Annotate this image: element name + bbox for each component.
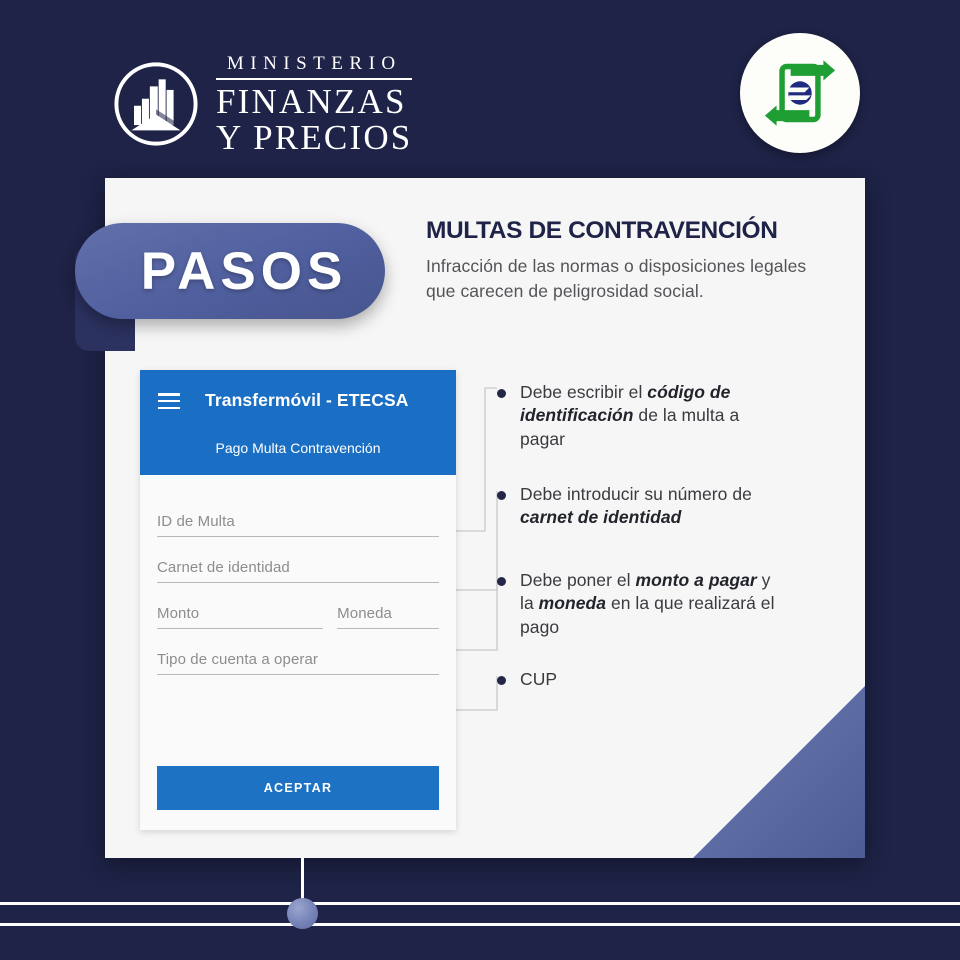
field-label-monto: Monto bbox=[157, 605, 323, 622]
field-label-moneda: Moneda bbox=[337, 605, 439, 622]
field-monto[interactable]: Monto bbox=[157, 605, 323, 629]
callout-monto-moneda: Debe poner el monto a pagar y la moneda … bbox=[497, 569, 782, 639]
field-label-carnet-de-identidad: Carnet de identidad bbox=[157, 559, 439, 576]
transfermovil-badge bbox=[740, 33, 860, 153]
field-row-monto-moneda: Monto Moneda bbox=[157, 605, 439, 629]
ministry-wordmark: MINISTERIO FINANZAS Y PRECIOS bbox=[216, 52, 412, 155]
page-title: MULTAS DE CONTRAVENCIÓN bbox=[426, 218, 826, 245]
form-area: ID de Multa Carnet de identidad Monto Mo… bbox=[140, 475, 456, 675]
callout-bullet-icon bbox=[497, 389, 506, 398]
app-bar: Transfermóvil - ETECSA Pago Multa Contra… bbox=[140, 370, 456, 475]
field-label-tipo-de-cuenta: Tipo de cuenta a operar bbox=[157, 651, 439, 668]
pasos-banner-label: PASOS bbox=[141, 245, 348, 298]
callout-bullet-icon bbox=[497, 491, 506, 500]
transfermovil-phone-sync-icon bbox=[761, 54, 839, 132]
bottom-node-circle bbox=[287, 898, 318, 929]
ministry-line-precios: Y PRECIOS bbox=[216, 120, 412, 156]
callout-text: CUP bbox=[520, 668, 557, 691]
callout-bullet-icon bbox=[497, 577, 506, 586]
page-header: MINISTERIO FINANZAS Y PRECIOS bbox=[0, 0, 960, 175]
field-moneda[interactable]: Moneda bbox=[337, 605, 439, 629]
callout-bullet-icon bbox=[497, 676, 506, 685]
ministry-building-emblem-icon bbox=[112, 60, 200, 148]
callout-cup: CUP bbox=[497, 668, 557, 691]
app-bar-title: Transfermóvil - ETECSA bbox=[205, 390, 409, 411]
title-block: MULTAS DE CONTRAVENCIÓN Infracción de la… bbox=[426, 218, 826, 304]
callout-text: Debe poner el monto a pagar y la moneda … bbox=[520, 569, 782, 639]
accept-button[interactable]: ACEPTAR bbox=[157, 766, 439, 810]
ministry-line-finanzas: FINANZAS bbox=[216, 80, 412, 120]
field-tipo-de-cuenta[interactable]: Tipo de cuenta a operar bbox=[157, 651, 439, 675]
callout-codigo-identificacion: Debe escribir el código de identificació… bbox=[497, 381, 782, 451]
callout-text: Debe introducir su número de carnet de i… bbox=[520, 483, 782, 530]
hamburger-menu-icon[interactable] bbox=[158, 393, 180, 409]
field-carnet-de-identidad[interactable]: Carnet de identidad bbox=[157, 559, 439, 583]
page-subtitle: Infracción de las normas o disposiciones… bbox=[426, 254, 826, 304]
callout-carnet-identidad: Debe introducir su número de carnet de i… bbox=[497, 483, 782, 530]
pasos-banner: PASOS bbox=[75, 223, 385, 319]
ministry-logo: MINISTERIO FINANZAS Y PRECIOS bbox=[112, 52, 412, 155]
bottom-rule-bottom bbox=[0, 923, 960, 926]
bottom-rule-top bbox=[0, 902, 960, 905]
corner-triangle-decoration bbox=[693, 686, 865, 858]
screen-title: Pago Multa Contravención bbox=[140, 440, 456, 456]
field-label-id-de-multa: ID de Multa bbox=[157, 513, 439, 530]
ministry-line-ministerio: MINISTERIO bbox=[216, 54, 412, 80]
callout-text: Debe escribir el código de identificació… bbox=[520, 381, 782, 451]
phone-mockup: Transfermóvil - ETECSA Pago Multa Contra… bbox=[140, 370, 456, 830]
field-id-de-multa[interactable]: ID de Multa bbox=[157, 513, 439, 537]
